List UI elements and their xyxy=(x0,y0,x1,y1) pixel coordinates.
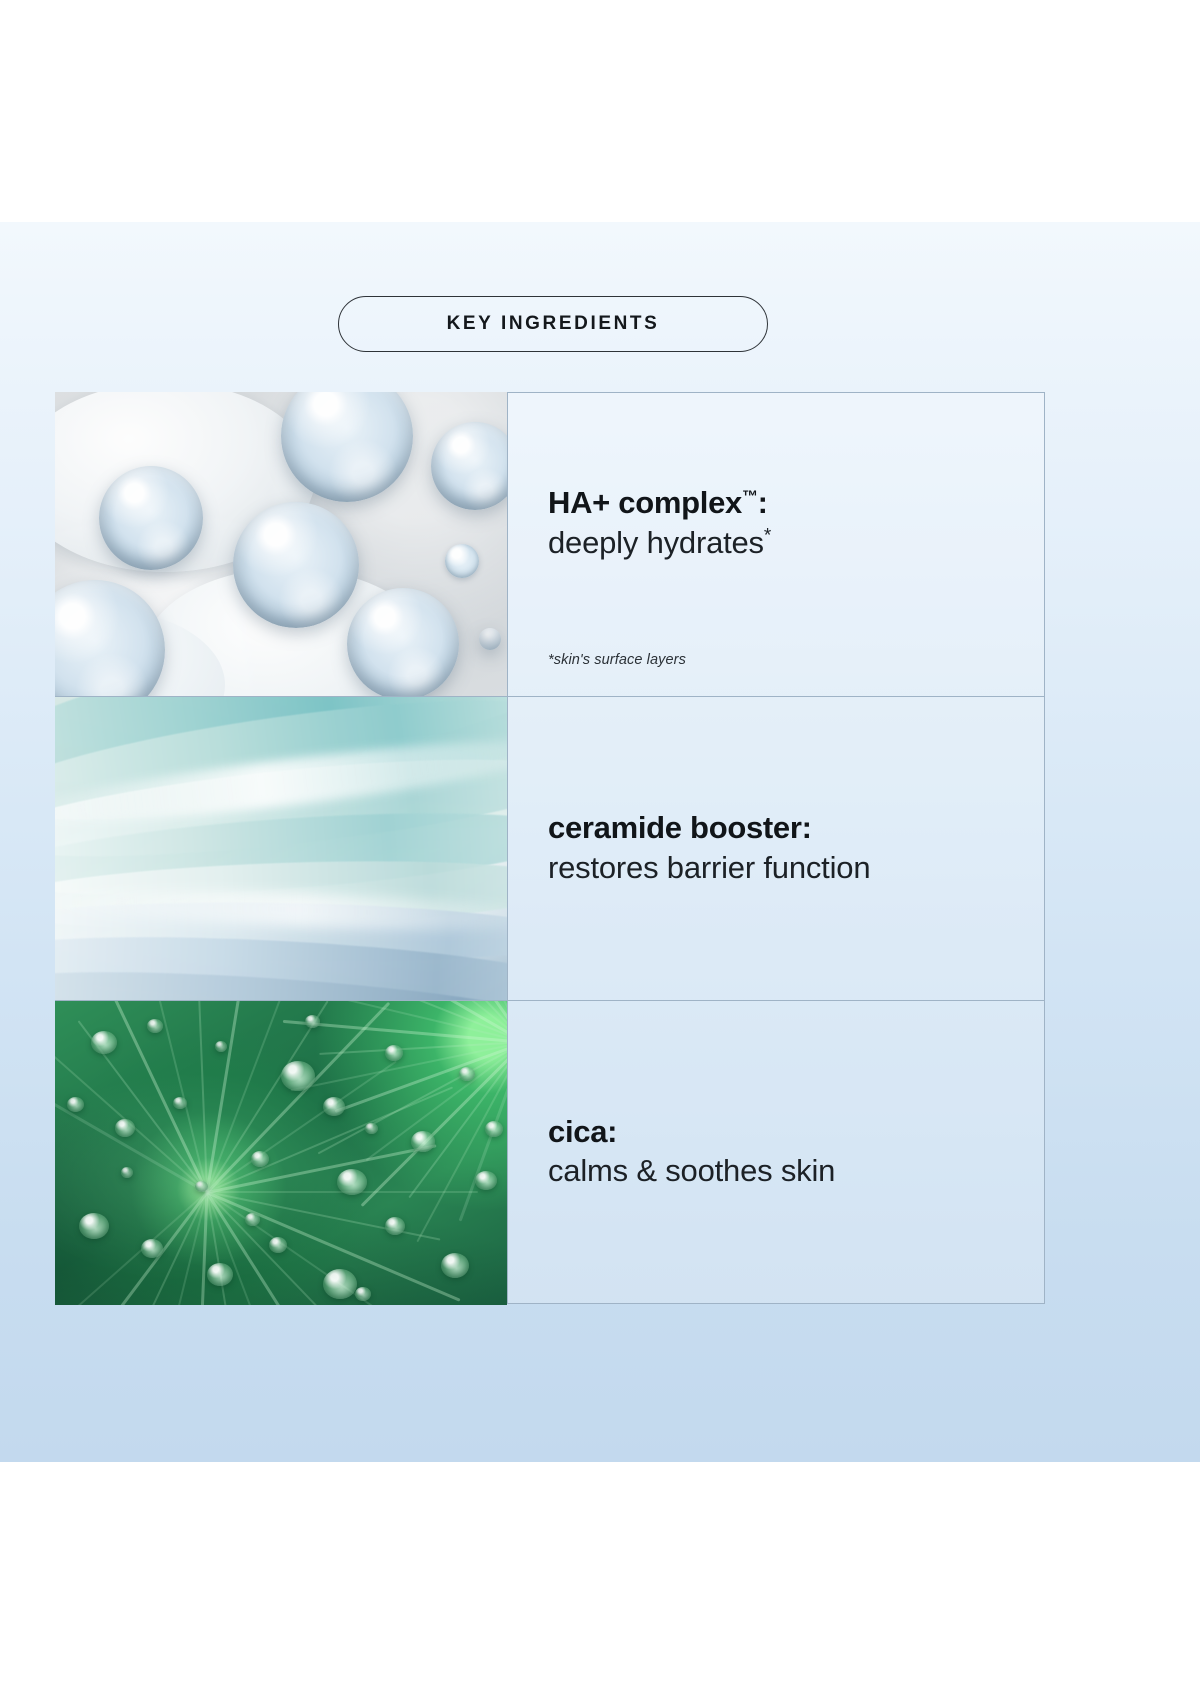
ingredients-grid: HA+ complex™: deeply hydrates* *skin's s… xyxy=(55,392,1045,1304)
trademark-symbol: ™ xyxy=(742,489,758,506)
ingredient-description-ceramide-booster: restores barrier function xyxy=(548,849,1044,887)
ingredient-copy-ha-complex: HA+ complex™: deeply hydrates* *skin's s… xyxy=(507,392,1045,696)
ingredient-description-cica: calms & soothes skin xyxy=(548,1152,1044,1190)
ingredient-row-cica: cica: calms & soothes skin xyxy=(55,1000,1045,1304)
ingredient-title-ha-complex: HA+ complex™: xyxy=(548,485,1044,522)
ingredient-title-cica: cica: xyxy=(548,1114,1044,1151)
infographic-canvas: KEY INGREDIENTS xyxy=(0,0,1200,1705)
ingredient-description-ha-complex: deeply hydrates* xyxy=(548,524,1044,562)
ingredient-copy-cica: cica: calms & soothes skin xyxy=(507,1001,1045,1304)
ingredient-row-ha-complex: HA+ complex™: deeply hydrates* *skin's s… xyxy=(55,392,1045,696)
silky-cream-texture-image xyxy=(55,697,507,1001)
title-colon: : xyxy=(758,485,768,520)
water-droplets-image xyxy=(55,392,507,696)
key-ingredients-badge: KEY INGREDIENTS xyxy=(338,296,768,352)
green-leaf-droplets-image xyxy=(55,1001,507,1305)
ingredient-row-ceramide-booster: ceramide booster: restores barrier funct… xyxy=(55,696,1045,1000)
footnote-skin-surface-layers: *skin's surface layers xyxy=(548,652,686,668)
description-text: deeply hydrates xyxy=(548,525,764,560)
ingredient-name: HA+ complex xyxy=(548,485,742,520)
ingredient-copy-ceramide-booster: ceramide booster: restores barrier funct… xyxy=(507,697,1045,1000)
ingredient-title-ceramide-booster: ceramide booster: xyxy=(548,810,1044,847)
asterisk-marker: * xyxy=(764,525,771,546)
badge-label: KEY INGREDIENTS xyxy=(447,313,660,335)
